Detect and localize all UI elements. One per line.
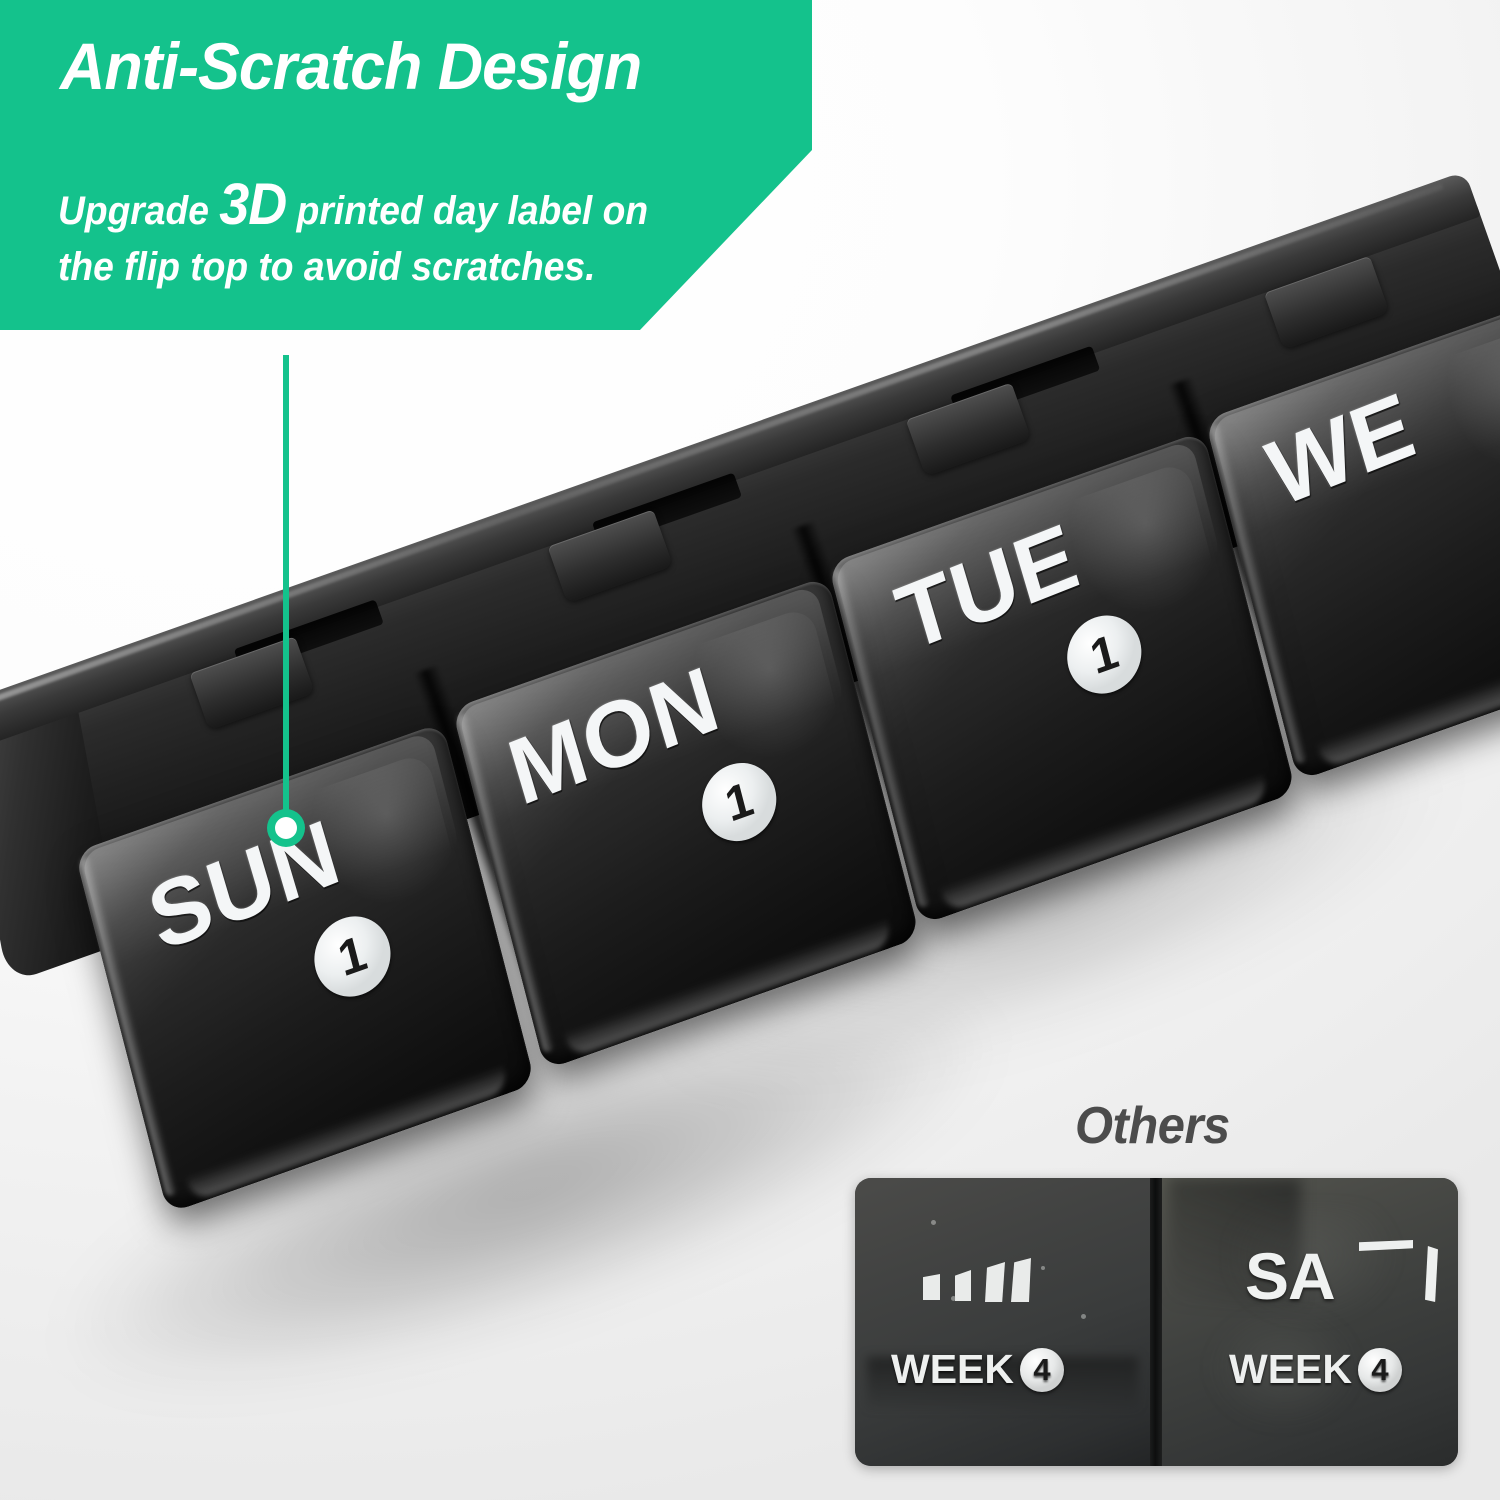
lid-week-number-badge: 1 (306, 906, 399, 1008)
others-panel-right (1161, 1178, 1458, 1466)
lid-week-number-badge: 1 (1059, 605, 1150, 704)
banner-subtitle-line2: the flip top to avoid scratches. (58, 245, 595, 289)
lid-day-label: WE (1256, 372, 1426, 528)
surface-speck (1041, 1266, 1045, 1270)
banner-subtitle-part2: printed day label on (286, 189, 648, 233)
others-panel-left (855, 1178, 1152, 1466)
surface-speck (1081, 1314, 1086, 1319)
banner-title: Anti-Scratch Design (60, 28, 641, 104)
others-comparison-inset: SA WEEK 4 WEEK 4 (855, 1178, 1458, 1466)
banner-subtitle-part1: Upgrade (58, 189, 219, 233)
others-panel-divider (1150, 1178, 1162, 1466)
product-marketing-image: WE TUE 1 MON 1 SUN 1 Anti-Scratch Design… (0, 0, 1500, 1500)
others-day-label-scratched: SA (1245, 1238, 1335, 1314)
others-week-label: WEEK (891, 1346, 1014, 1393)
others-week-number: 4 (1020, 1348, 1064, 1392)
others-week-row-right: WEEK 4 (1229, 1346, 1402, 1393)
others-week-number: 4 (1358, 1348, 1402, 1392)
others-label: Others (1075, 1096, 1230, 1156)
banner-subtitle: Upgrade 3D printed day label on the flip… (58, 168, 737, 293)
banner-subtitle-highlight: 3D (219, 172, 286, 237)
surface-speck (931, 1220, 936, 1225)
scratched-label-fragment (923, 1274, 940, 1300)
others-week-label: WEEK (1229, 1346, 1352, 1393)
surface-speck (951, 1296, 956, 1301)
others-week-row-left: WEEK 4 (891, 1346, 1064, 1393)
lid-week-number-badge: 1 (694, 752, 785, 851)
scratched-label-fragment (985, 1262, 1005, 1302)
